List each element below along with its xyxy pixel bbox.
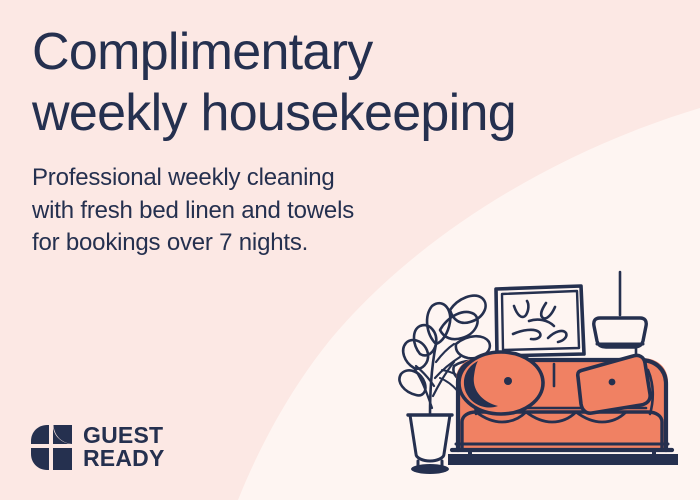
subcopy-text: Professional weekly cleaning with fresh …	[32, 162, 452, 260]
promo-banner: Complimentary weekly housekeeping Profes…	[0, 0, 700, 500]
guestready-quadrant-mark	[31, 425, 72, 470]
round-cushion	[459, 352, 543, 414]
living-room-illustration	[396, 258, 700, 500]
framed-artwork	[496, 286, 584, 356]
guestready-wordmark: GUEST READY	[83, 424, 165, 471]
page-title: Complimentary weekly housekeeping	[32, 22, 592, 144]
logo-line-2: READY	[83, 447, 165, 470]
logo-line-1: GUEST	[83, 424, 165, 447]
guestready-logo: GUEST READY	[31, 424, 165, 471]
